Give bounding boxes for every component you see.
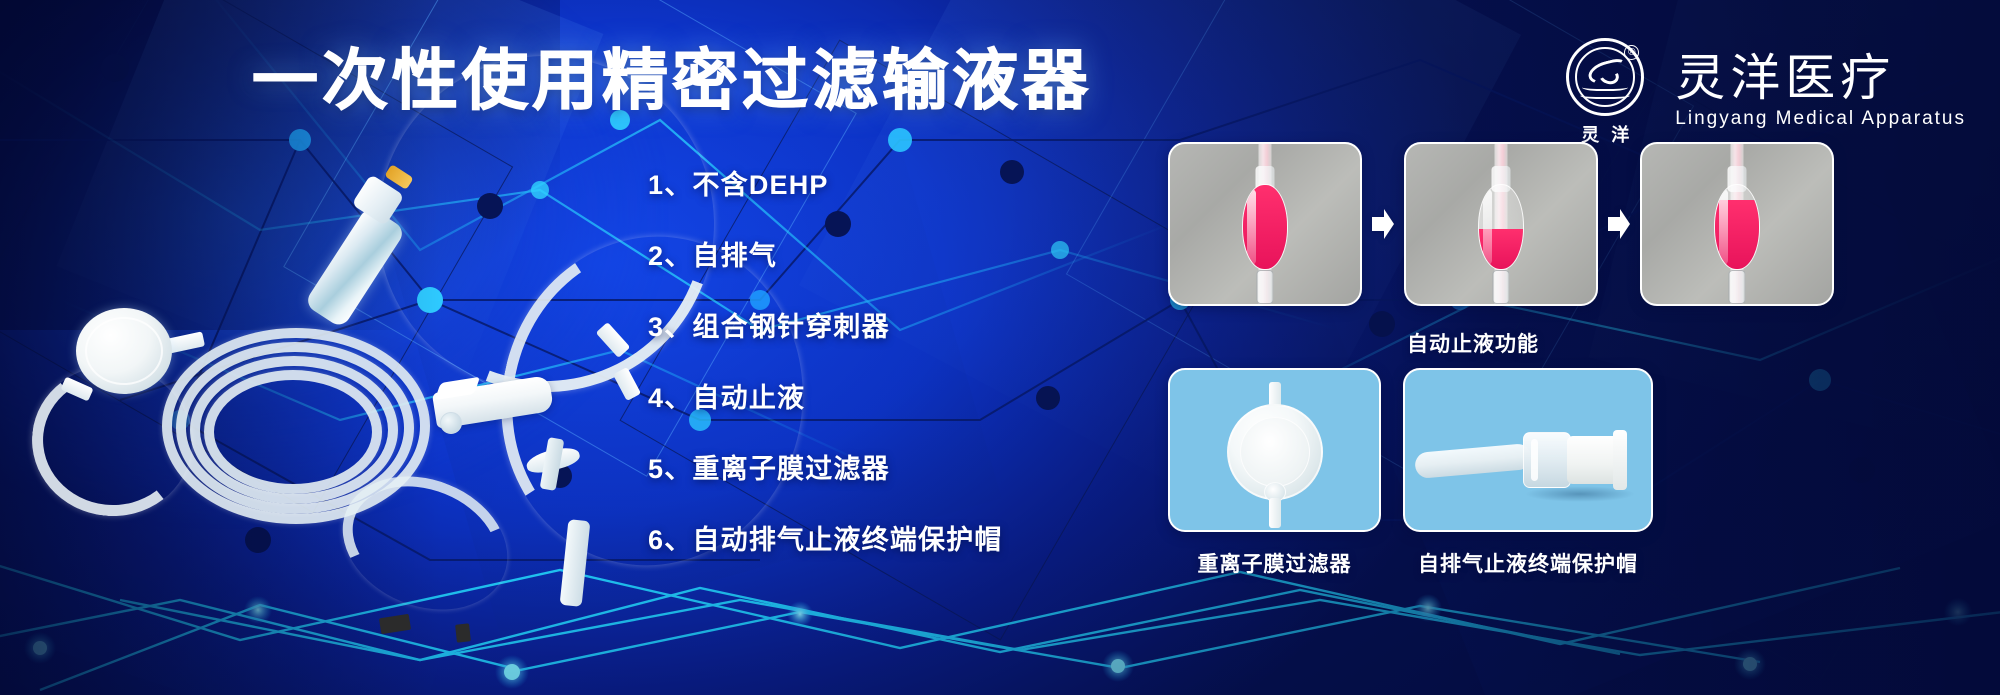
seal-bird-icon xyxy=(1586,56,1630,87)
feature-label: 不含DEHP xyxy=(692,170,828,200)
feature-index: 1、 xyxy=(648,170,692,200)
feature-label: 自动止液 xyxy=(692,383,805,413)
seal-wave-icon xyxy=(1580,90,1630,99)
feature-label: 自排气 xyxy=(692,241,777,271)
feature-index: 5、 xyxy=(648,454,692,484)
frame-drip-chamber xyxy=(1478,184,1524,270)
feature-item-5: 5、重离子膜过滤器 xyxy=(648,456,1003,483)
feature-label: 组合钢针穿刺器 xyxy=(692,312,889,342)
component-caption-vent-cap: 自排气止液终端保护帽 xyxy=(1403,548,1653,578)
feature-index: 2、 xyxy=(648,241,692,271)
feature-item-6: 6、自动排气止液终端保护帽 xyxy=(648,527,1003,554)
component-caption-filter: 重离子膜过滤器 xyxy=(1168,548,1381,578)
feature-list: 1、不含DEHP 2、自排气 3、组合钢针穿刺器 4、自动止液 5、重离子膜过滤… xyxy=(648,172,1003,554)
feature-item-4: 4、自动止液 xyxy=(648,385,1003,412)
feature-item-1: 1、不含DEHP xyxy=(648,172,1003,199)
component-caption-row: 重离子膜过滤器 自排气止液终端保护帽 xyxy=(1168,548,1698,578)
feature-label: 自动排气止液终端保护帽 xyxy=(692,525,1002,555)
page-title: 一次性使用精密过滤输液器 xyxy=(252,47,1092,113)
product-tape xyxy=(455,623,471,642)
feature-item-2: 2、自排气 xyxy=(648,243,1003,270)
frame-lower-connector xyxy=(1493,270,1510,304)
feature-index: 4、 xyxy=(648,383,692,413)
frame-chamber-gloss xyxy=(1719,189,1728,265)
vent-cap-flange xyxy=(1613,430,1627,490)
seal-bird-accent-icon xyxy=(1597,65,1621,86)
feature-label: 重离子膜过滤器 xyxy=(692,454,889,484)
frame-lower-connector xyxy=(1729,270,1746,304)
right-arrow-icon xyxy=(1362,142,1404,306)
frame-chamber-gloss xyxy=(1247,189,1256,265)
product-tube-coil xyxy=(204,370,382,494)
demo-frame-1 xyxy=(1168,142,1362,306)
vent-cap-body xyxy=(1567,436,1619,484)
frame-drip-chamber xyxy=(1714,184,1760,270)
filter-outlet-icon xyxy=(1269,498,1281,528)
feature-index: 3、 xyxy=(648,312,692,342)
product-banner: 一次性使用精密过滤输液器 ® 灵洋 灵洋医疗 Lingyang Medical … xyxy=(0,0,2000,695)
main-product-photo xyxy=(40,150,680,570)
vent-cap-icon xyxy=(1523,432,1571,488)
right-arrow-icon xyxy=(1598,142,1640,306)
frame-drip-chamber xyxy=(1242,184,1288,270)
inline-filter-icon xyxy=(76,308,172,394)
demo-sequence-row xyxy=(1168,142,1834,306)
component-photo-filter xyxy=(1168,368,1381,532)
logo-wordmark: 灵洋医疗 Lingyang Medical Apparatus xyxy=(1675,52,1966,134)
company-name-en: Lingyang Medical Apparatus xyxy=(1675,105,1966,134)
component-photo-vent-cap xyxy=(1403,368,1653,532)
registered-mark-icon: ® xyxy=(1624,45,1639,60)
feature-index: 6、 xyxy=(648,525,692,555)
demo-sequence-caption: 自动止液功能 xyxy=(1168,328,1778,358)
feature-item-3: 3、组合钢针穿刺器 xyxy=(648,314,1003,341)
company-name-cn: 灵洋医疗 xyxy=(1675,52,1966,105)
demo-frame-2 xyxy=(1404,142,1598,306)
vent-cap-tube xyxy=(1414,443,1532,479)
roller-clamp-wheel xyxy=(440,412,462,434)
component-panel-row xyxy=(1168,368,1653,532)
demo-frame-3 xyxy=(1640,142,1834,306)
demo-panels: 自动止液功能 重离子膜过滤器 自排气止液终端保护帽 xyxy=(1160,130,1980,690)
seal-wave-icon xyxy=(1582,82,1628,91)
circular-wave-seal-icon: ® xyxy=(1566,38,1644,116)
frame-lower-connector xyxy=(1257,270,1274,304)
frame-chamber-gloss xyxy=(1483,189,1492,265)
